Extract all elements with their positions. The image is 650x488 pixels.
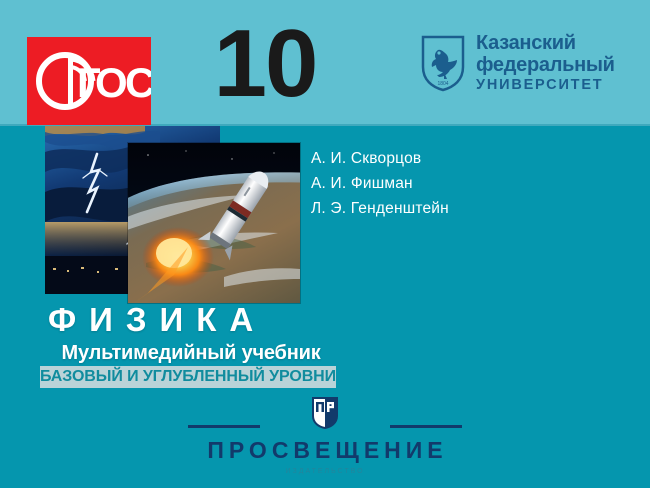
kazan-federal-university-logo: 1804 Казанский федеральный УНИВЕРСИТЕТ	[420, 32, 615, 93]
book-title: ФИЗИКА	[44, 303, 336, 336]
svg-text:О: О	[95, 59, 128, 106]
kfu-line-2: федеральный	[476, 54, 615, 76]
publisher-emblem-wrap	[0, 397, 650, 435]
author-name: Л. Э. Генденштейн	[311, 196, 449, 221]
gos-standard-logo: Г О С	[27, 37, 151, 125]
publisher-rule-left	[188, 425, 260, 428]
book-subtitle: Мультимедийный учебник	[44, 342, 338, 365]
textbook-cover: Г О С 10 1804 Казанский федеральный УНИВ…	[0, 0, 650, 488]
author-name: А. И. Скворцов	[311, 146, 449, 171]
publisher-block: ПРОСВЕЩЕНИЕ ИЗДАТЕЛЬСТВО	[0, 397, 650, 475]
rocket-launch-over-earth-photo	[128, 143, 300, 303]
kfu-line-1: Казанский	[476, 32, 615, 54]
kfu-shield-year: 1804	[437, 81, 448, 87]
author-name: А. И. Фишман	[311, 171, 449, 196]
svg-text:С: С	[125, 59, 151, 106]
kfu-shield-icon: 1804	[420, 34, 466, 92]
level-band: БАЗОВЫЙ И УГЛУБЛЕННЫЙ УРОВНИ	[40, 366, 336, 388]
publisher-name: ПРОСВЕЩЕНИЕ	[0, 437, 650, 464]
publisher-shield-icon	[312, 397, 338, 429]
level-band-label: БАЗОВЫЙ И УГЛУБЛЕННЫЙ УРОВНИ	[40, 368, 336, 386]
authors-list: А. И. Скворцов А. И. Фишман Л. Э. Генден…	[311, 146, 449, 221]
publisher-rule-right	[390, 425, 462, 428]
grade-number: 10	[205, 16, 325, 112]
kfu-line-3: УНИВЕРСИТЕТ	[476, 77, 615, 93]
publisher-tagline: ИЗДАТЕЛЬСТВО	[0, 468, 650, 475]
